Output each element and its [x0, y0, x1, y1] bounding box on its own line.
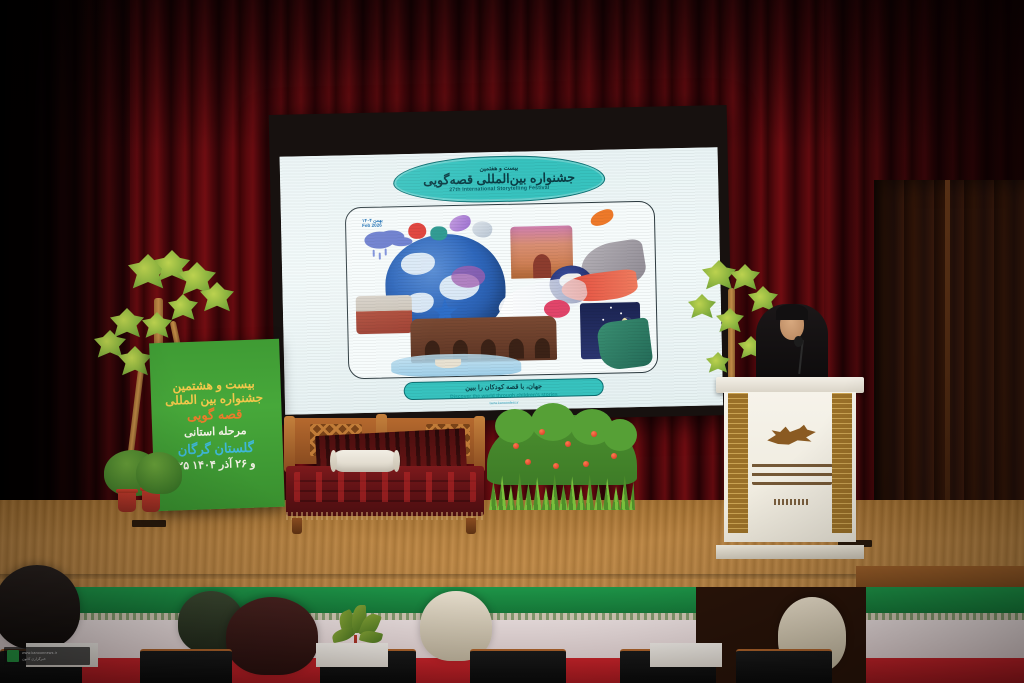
- watermark-line-2: خبرگزاری کانون: [22, 657, 57, 661]
- bush-lobe: [603, 419, 637, 451]
- bush-flower: [553, 463, 559, 469]
- bench-leg: [292, 518, 302, 534]
- tree-leaf: [118, 346, 152, 380]
- red-figure-art: [408, 223, 426, 239]
- teal-creature-art: [430, 226, 447, 240]
- bench-bolster-cushion: [332, 450, 398, 472]
- bush-flower: [611, 453, 617, 459]
- watermark-line-1: www.kanoonnews.ir: [22, 651, 57, 655]
- bolster-end-cap: [393, 450, 400, 472]
- seat-back: [736, 649, 832, 683]
- seat-back: [470, 649, 566, 683]
- rain-art: [385, 249, 387, 256]
- bush-flower: [525, 459, 531, 465]
- seat-name-card: [650, 643, 722, 667]
- bush-flower: [539, 429, 545, 435]
- bush-flower: [565, 441, 571, 447]
- banner-green-band: [0, 587, 1024, 613]
- speaker-person: [756, 296, 828, 384]
- seat-name-card: [316, 643, 388, 667]
- audience-head: [226, 597, 318, 675]
- bush-flower: [591, 431, 597, 437]
- projection-screen: بیست و هفتمین جشنواره بین‌المللی قصه‌گوی…: [269, 105, 734, 425]
- star-art: [602, 319, 604, 321]
- bench-seat-pattern: [294, 472, 476, 502]
- butterfly-art: [447, 213, 472, 233]
- plant-leaf: [331, 627, 355, 643]
- bridge-arch: [509, 339, 524, 359]
- banner-script-band: [0, 613, 1024, 620]
- poster-date-stamp: بهمن ۱۴۰۴ Feb 2026: [362, 218, 383, 229]
- bench-post: [284, 416, 295, 472]
- orange-bird-art: [588, 208, 615, 228]
- slide-footer-en: Discover the world through children's st…: [450, 392, 558, 400]
- slide-footer-block: جهان، با قصه کودکان را ببین Discover the…: [404, 378, 605, 410]
- red-tent-art: [356, 295, 413, 334]
- rain-art: [373, 250, 375, 257]
- podium-base: [716, 545, 864, 559]
- flower-pot: [118, 492, 136, 512]
- watermark-text-lines: www.kanoonnews.ir خبرگزاری کانون: [22, 651, 57, 661]
- sign-line-3: قصه گویی: [155, 406, 273, 424]
- slide-header-main: جشنواره بین‌المللی قصه‌گویی: [423, 171, 575, 187]
- kanoon-logo-subtext: [774, 499, 810, 505]
- slide-title-block: بیست و هفتمین جشنواره بین‌المللی قصه‌گوی…: [393, 154, 606, 205]
- tree-leaf: [688, 294, 716, 322]
- traditional-bench: [276, 414, 496, 522]
- bush-flower: [513, 443, 519, 449]
- star-art: [620, 312, 622, 314]
- sign-line-4: مرحله استانی: [156, 425, 274, 441]
- star-art: [610, 307, 612, 309]
- slide-footer-fa: جهان، با قصه کودکان را ببین: [465, 382, 542, 392]
- bridge-arch: [535, 338, 550, 358]
- slide-footer-url: www.kanoonfest.ir: [489, 400, 518, 405]
- tree-leaf: [706, 352, 730, 376]
- audience-head: [0, 565, 80, 649]
- kanoon-logo: [760, 419, 822, 459]
- floor-vent: [132, 520, 166, 527]
- bench-fringe: [286, 512, 484, 520]
- podium-top-ledge: [716, 377, 864, 393]
- bush-flower: [583, 461, 589, 467]
- kanoon-logo-text: [752, 463, 832, 485]
- bench-leg: [466, 518, 476, 534]
- poster-date-en: Feb 2026: [362, 223, 383, 229]
- bolster-end-cap: [330, 450, 337, 472]
- bush-cutout-prop: [487, 415, 637, 510]
- sign-line-5: گلستان گرگان: [157, 440, 275, 458]
- arch-art: [533, 254, 552, 278]
- lectern-podium: [716, 377, 864, 559]
- bush-lobe: [531, 403, 575, 441]
- microphone-icon: [794, 336, 803, 347]
- bench-seat: [286, 466, 484, 516]
- seat-back: [140, 649, 232, 683]
- green-cloth-art: [596, 317, 654, 371]
- watermark-badge: www.kanoonnews.ir خبرگزاری کانون: [4, 647, 90, 665]
- rain-art: [379, 253, 381, 260]
- watermark-logo-icon: [7, 650, 19, 662]
- speaker-headscarf: [776, 304, 808, 320]
- podium-brick-column: [832, 393, 852, 533]
- continent-art: [401, 252, 435, 275]
- kanoon-bird-icon: [764, 423, 818, 453]
- festival-poster-slide: بیست و هفتمین جشنواره بین‌المللی قصه‌گوی…: [280, 147, 724, 414]
- butterfly-art: [471, 220, 493, 239]
- cloud-art: [364, 231, 394, 249]
- tree-leaf: [168, 294, 198, 324]
- bench-post: [474, 416, 485, 472]
- stage-photo-scene: بیست و هفتمین جشنواره بین‌المللی قصه‌گوی…: [0, 0, 1024, 683]
- poster-artwork-card: بهمن ۱۴۰۴ Feb 2026: [345, 201, 659, 380]
- projection-screen-surface: بیست و هفتمین جشنواره بین‌المللی قصه‌گوی…: [280, 147, 724, 414]
- podium-brick-column: [728, 393, 748, 533]
- bush-lobe: [495, 409, 535, 443]
- potted-shrub: [136, 452, 182, 494]
